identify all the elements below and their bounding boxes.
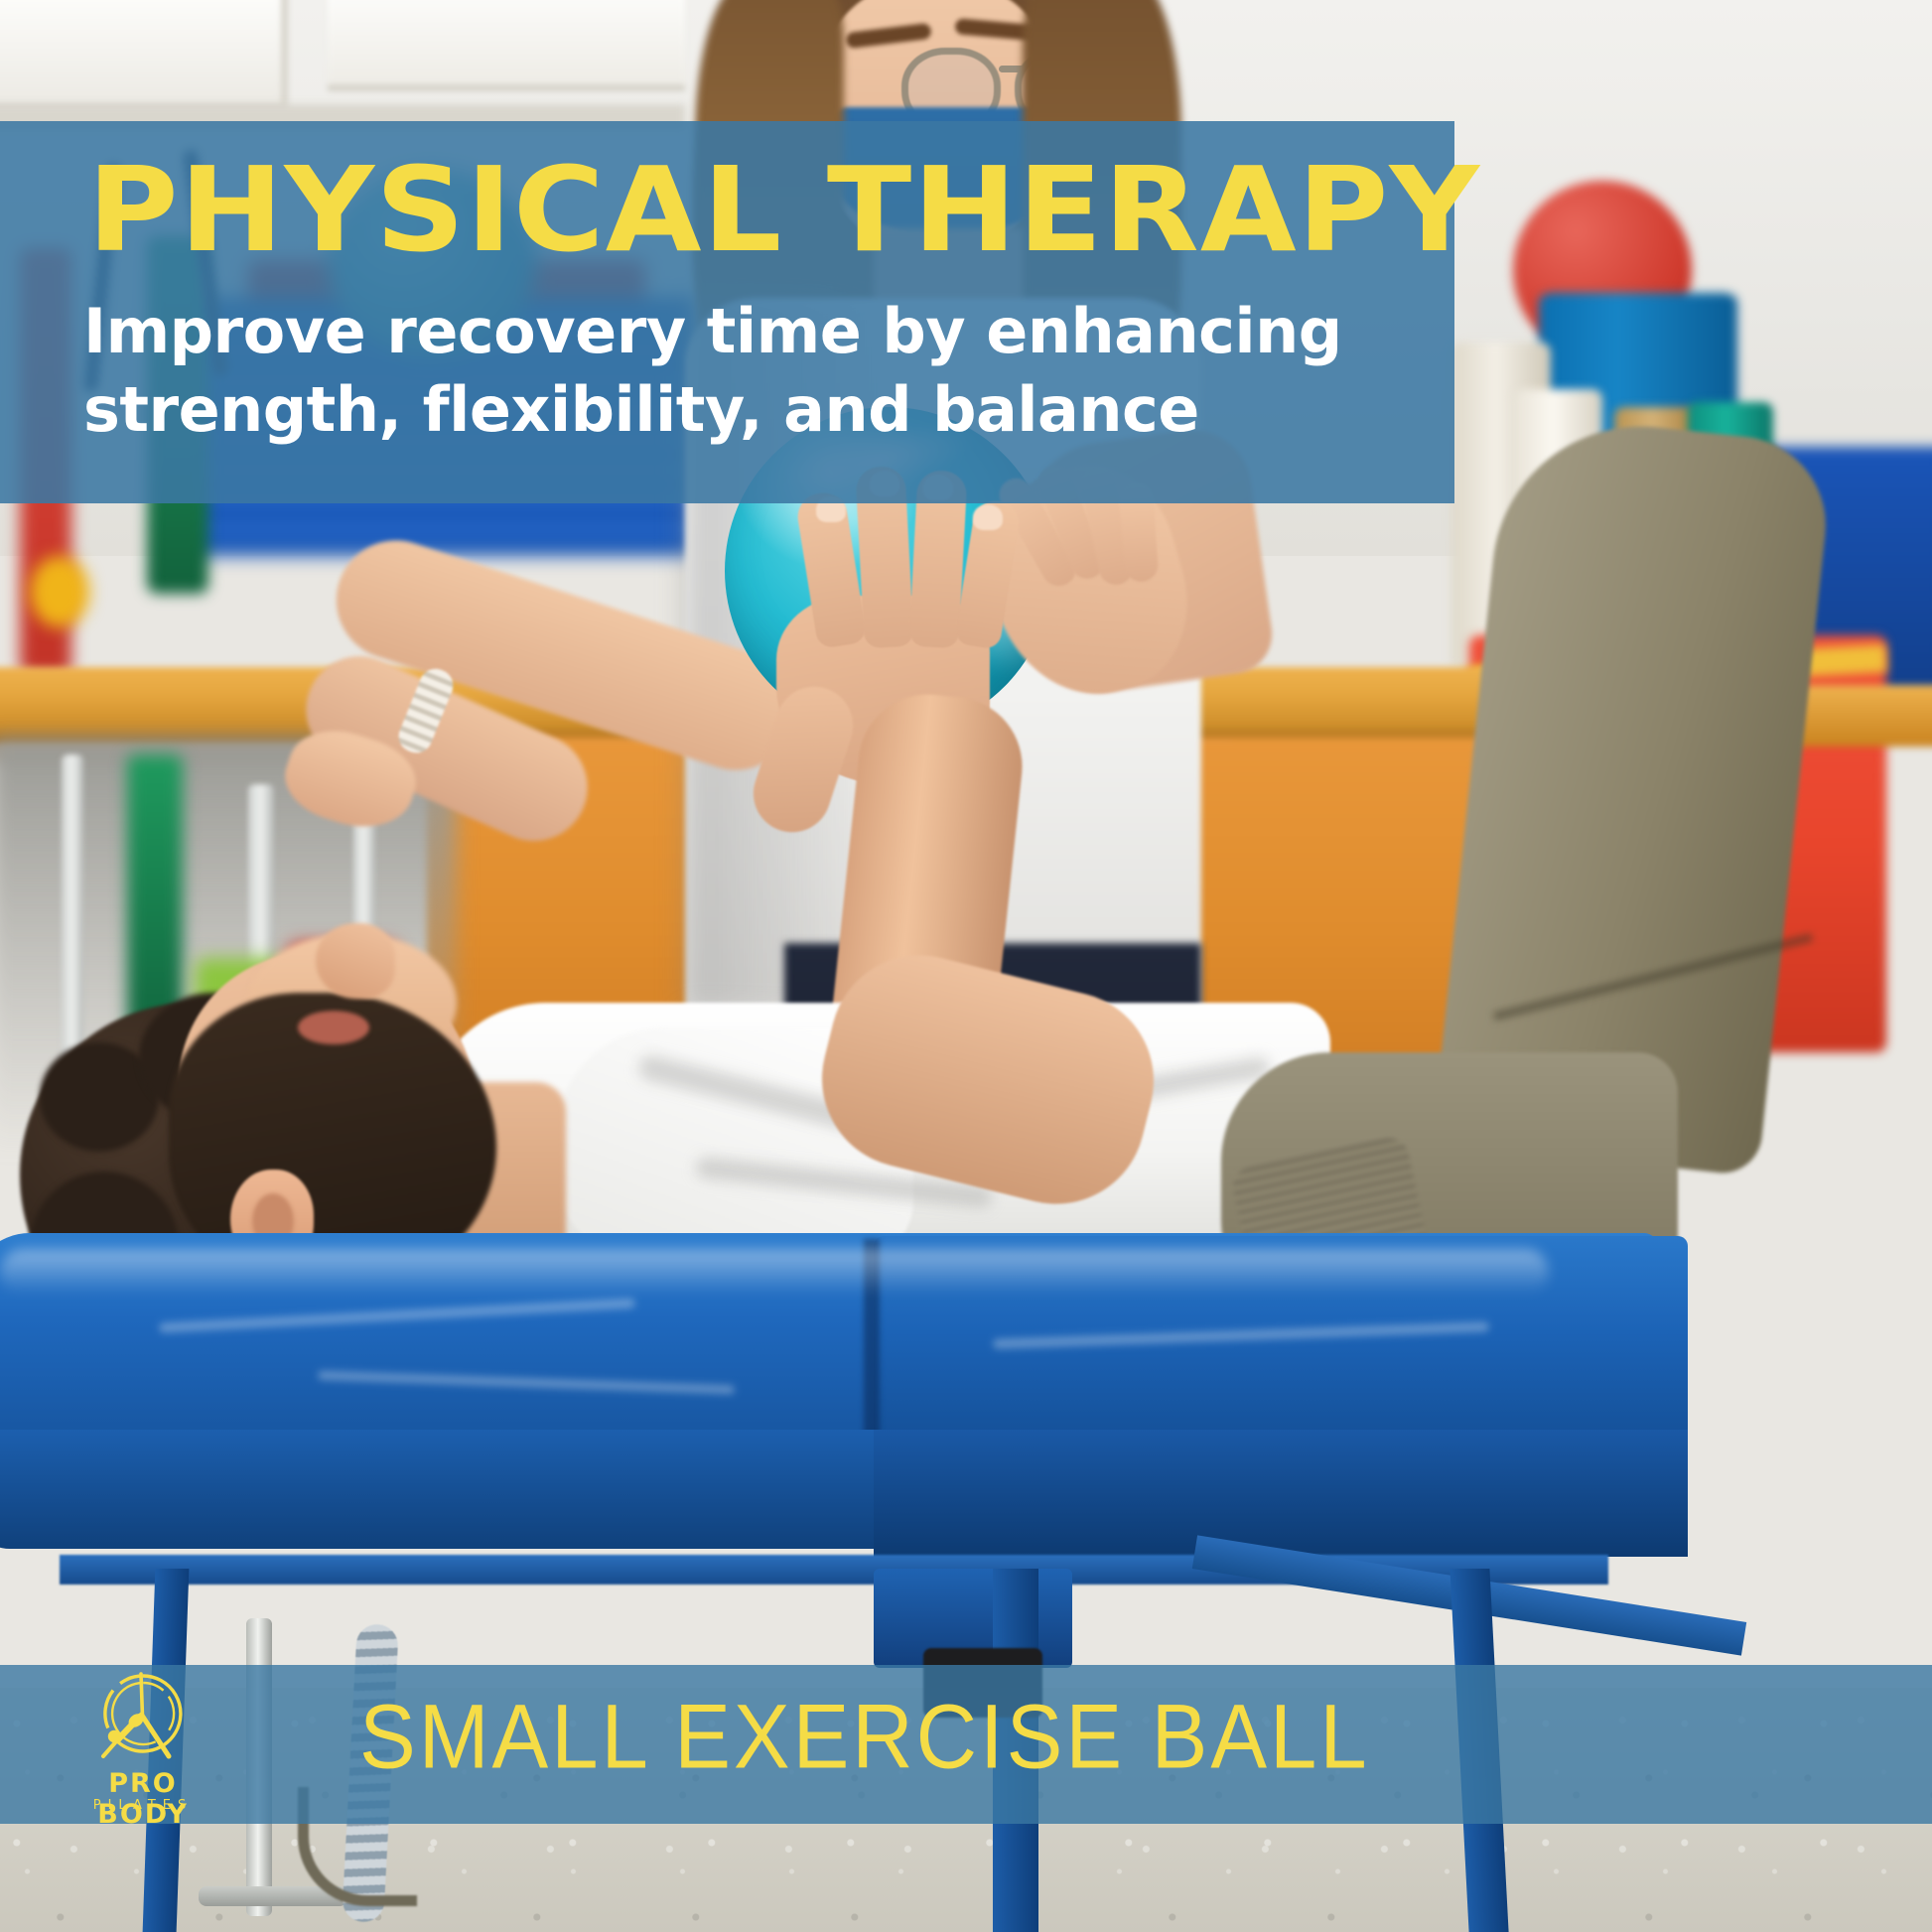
therapy-table-highlight [0, 1249, 1549, 1295]
headline-banner: PHYSICAL THERAPY Improve recovery time b… [0, 121, 1454, 503]
page-title: PHYSICAL THERAPY [87, 151, 1480, 268]
subheadline-line-2: strength, flexibility, and balance [83, 370, 1342, 449]
product-name-label: SMALL EXERCISE BALL [359, 1692, 1370, 1783]
yellow-prop [30, 556, 89, 627]
pilates-figure-circle-icon [73, 1671, 212, 1770]
brand-logo[interactable]: PRO BODY PILATES [64, 1671, 222, 1820]
subheadline-line-1: Improve recovery time by enhancing [83, 292, 1342, 370]
chrome-leg-a [62, 755, 83, 1082]
logo-tagline: PILATES [64, 1798, 222, 1813]
therapy-table-side-2 [874, 1430, 1688, 1557]
window-pane-left [0, 0, 288, 111]
patient-mouth [298, 1011, 369, 1044]
patient-nail-pinky [973, 504, 1003, 530]
subheadline: Improve recovery time by enhancing stren… [83, 292, 1342, 450]
eyeglasses-bridge [999, 66, 1025, 72]
patient-nose [316, 923, 395, 999]
ad-creative: PHYSICAL THERAPY Improve recovery time b… [0, 0, 1932, 1932]
window-pane-middle [328, 0, 685, 91]
